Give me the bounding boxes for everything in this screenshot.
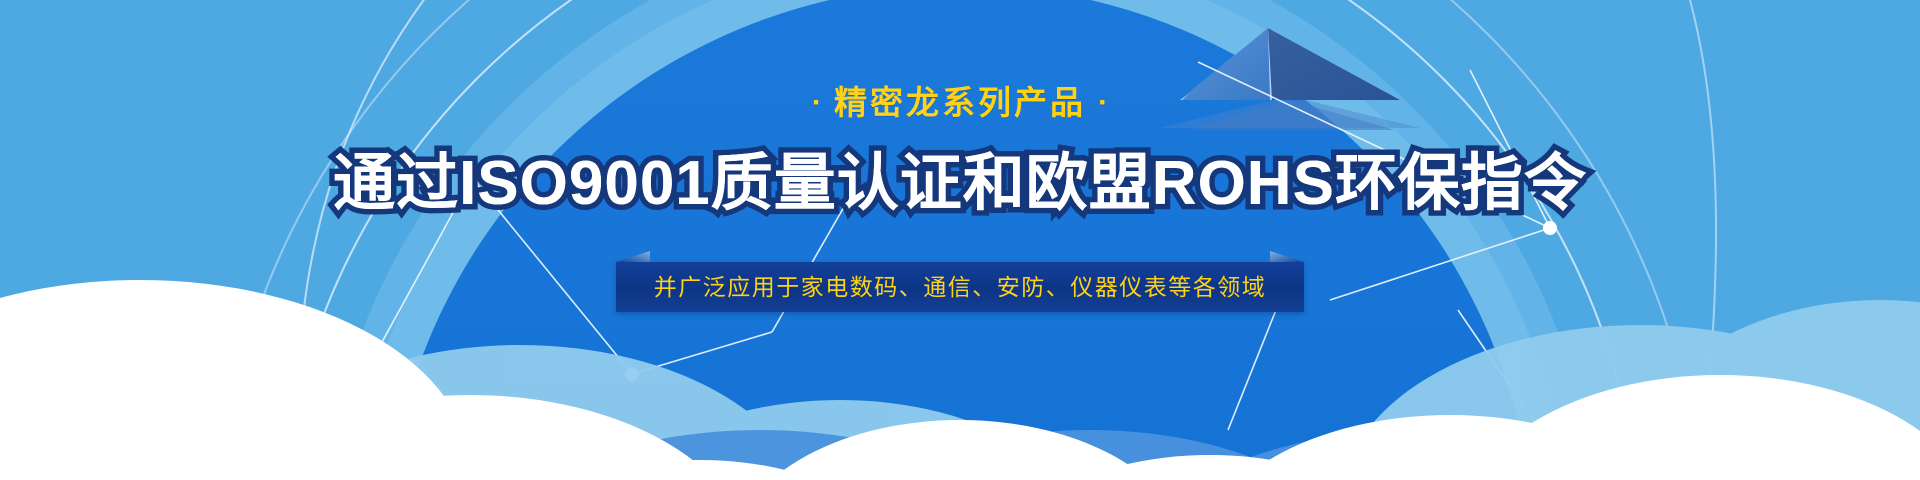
promo-banner: · 精密龙系列产品 · 通过ISO9001质量认证和欧盟ROHS环保指令 通过I… bbox=[0, 0, 1920, 480]
constellation-right-nodes bbox=[1543, 221, 1557, 235]
banner-artwork bbox=[0, 0, 1920, 480]
